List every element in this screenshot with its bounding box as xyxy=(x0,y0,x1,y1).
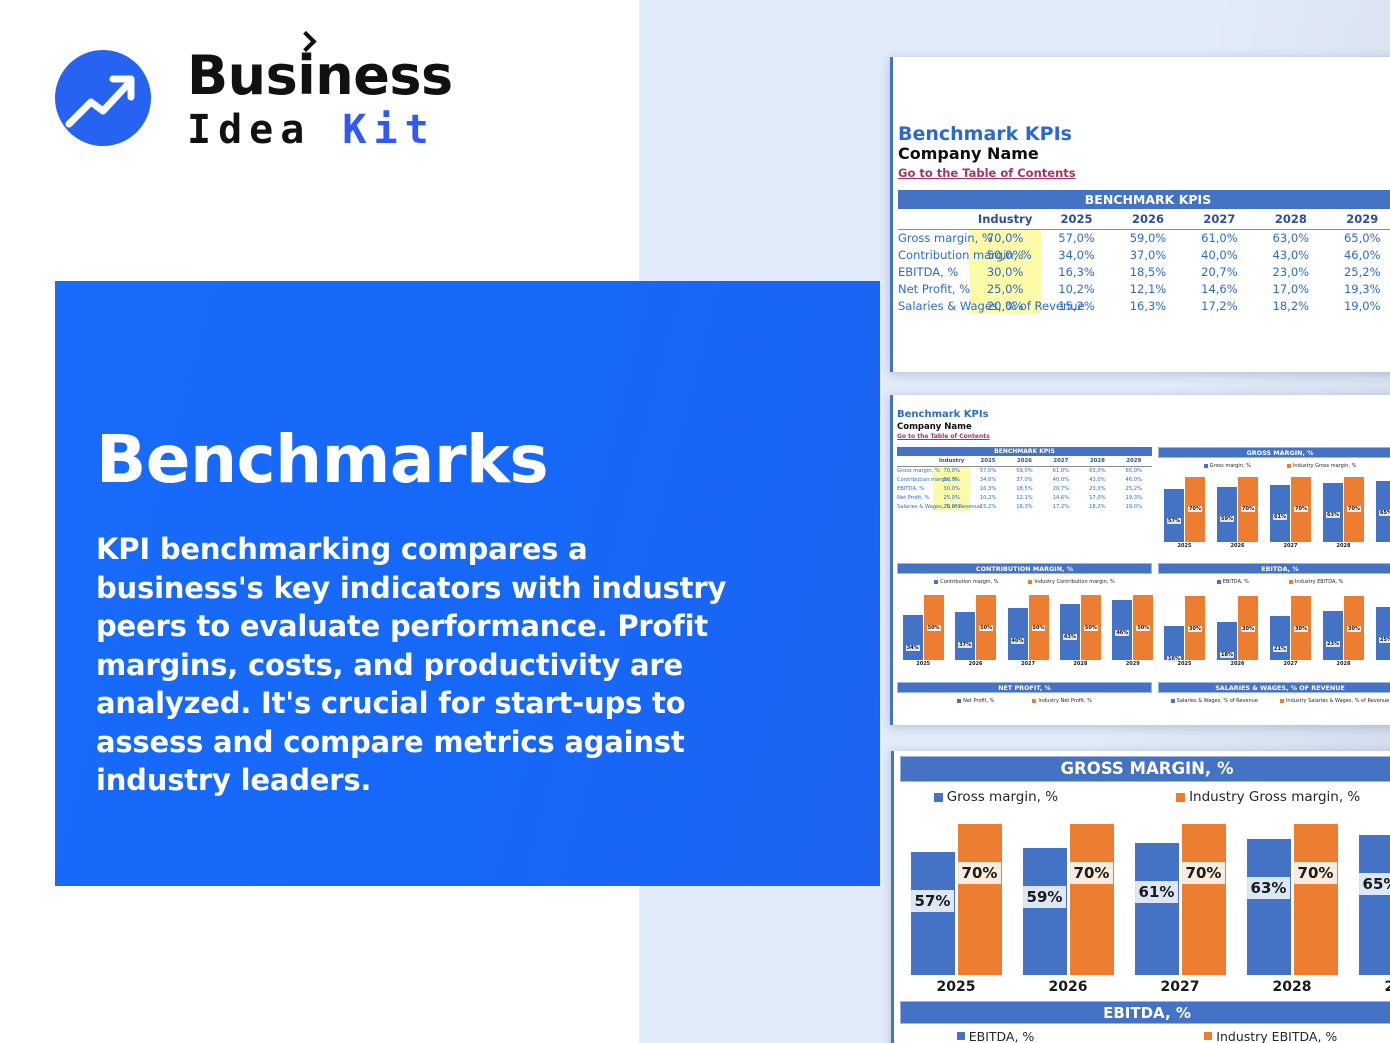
bar-industry-2028: 50% xyxy=(1081,595,1101,660)
cell-2025: 16,3% xyxy=(970,484,1006,493)
legend-item-series2: Industry EBITDA, % xyxy=(1289,579,1343,585)
legend-swatch-icon xyxy=(1032,699,1036,703)
bar-industry-2025: 30% xyxy=(1185,596,1205,660)
cell-2027: 17,2% xyxy=(1184,297,1255,314)
chart-title-ebitda-next: EBITDA, % xyxy=(900,1001,1390,1024)
sheet-title: Benchmark KPIs xyxy=(898,123,1072,145)
bar-value-label: 18% xyxy=(1220,652,1234,658)
legend-label: EBITDA, % xyxy=(969,1029,1035,1043)
table-row: Gross margin, % 70,0% 57,0% 59,0% 61,0% … xyxy=(898,229,1390,246)
bar-value-label: 21% xyxy=(1273,646,1287,652)
bar-value-label: 50% xyxy=(1136,625,1150,631)
mini-chart-gross-margin[interactable]: GROSS MARGIN, % Gross margin, % Industry… xyxy=(1158,447,1390,565)
bar-company-2025: 34% xyxy=(903,615,923,660)
legend-item-series1: EBITDA, % xyxy=(1217,579,1249,585)
mini-x-axis: 20252026202720282029 xyxy=(1158,543,1390,553)
bar-company-2025: 16% xyxy=(1164,626,1184,660)
legend-label: Industry Gross margin, % xyxy=(1293,463,1356,469)
mini-bars: 34%50%37%50%40%50%43%50%46%50% xyxy=(897,588,1152,660)
cell-2026: 12,1% xyxy=(1112,280,1183,297)
cell-2027: 14,6% xyxy=(1184,280,1255,297)
bar-company-2028: 43% xyxy=(1060,604,1080,660)
bar-industry-2025: 50% xyxy=(924,595,944,660)
legend-swatch-icon xyxy=(1028,580,1032,584)
legend-item-series1: Gross margin, % xyxy=(1204,463,1251,469)
brand-name-i: i xyxy=(297,47,315,105)
legend-item-series1: Salaries & Wages, % of Revenue xyxy=(1171,698,1258,704)
mini-chart-title: CONTRIBUTION MARGIN, % xyxy=(897,563,1152,574)
mini-col-industry: Industry xyxy=(933,456,969,466)
cell-2027: 20,7% xyxy=(1043,484,1079,493)
row-label: Contribution margin, % xyxy=(897,475,933,484)
x-axis-label-2027: 2027 xyxy=(1124,979,1236,995)
sheet-left-rail xyxy=(890,57,893,372)
mini-x-axis: 20252026202720282029 xyxy=(1158,661,1390,671)
mini-chart-contribution-margin[interactable]: CONTRIBUTION MARGIN, % Contribution marg… xyxy=(897,563,1152,683)
legend-swatch-icon xyxy=(1280,699,1284,703)
legend-label: Gross margin, % xyxy=(947,789,1058,805)
table-row: Net Profit, % 25,0% 10,2% 12,1% 14,6% 17… xyxy=(897,493,1152,502)
table-row: EBITDA, % 30,0% 16,3% 18,5% 20,7% 23,0% … xyxy=(897,484,1152,493)
cell-industry: 30,0% xyxy=(933,484,969,493)
bar-value-label: 46% xyxy=(1115,630,1129,636)
mini-plot-area: 16%30%18%30%21%30%23%30%25%30%2025202620… xyxy=(1158,588,1390,672)
x-axis-label-2028: 2028 xyxy=(1317,543,1370,549)
legend-item-series2: Industry Net Profit, % xyxy=(1032,698,1092,704)
mini-chart-ebitda[interactable]: EBITDA, % EBITDA, % Industry EBITDA, % 1… xyxy=(1158,563,1390,683)
legend-item-series1: Gross margin, % xyxy=(934,789,1058,805)
cell-2026: 16,3% xyxy=(1006,502,1042,511)
cell-2027: 17,2% xyxy=(1043,502,1079,511)
spreadsheet-panel-kpi-table[interactable]: Benchmark KPIs Company Name Go to the Ta… xyxy=(890,57,1390,372)
hero-description: KPI benchmarking compares a business's k… xyxy=(96,530,764,800)
x-axis-label-2025: 2025 xyxy=(900,979,1012,995)
bar-value-label: 70% xyxy=(1188,506,1202,512)
brand-idea-word: Idea xyxy=(187,107,342,153)
row-label: EBITDA, % xyxy=(897,484,933,493)
x-axis-label-2025: 2025 xyxy=(897,661,949,667)
mini-col-2025: 2025 xyxy=(970,456,1006,466)
bar-value-label: 57% xyxy=(1167,518,1181,524)
bar-industry-2025: 70% xyxy=(1185,477,1205,542)
bar-company-2026: 37% xyxy=(955,612,975,660)
legend-item-series1: EBITDA, % xyxy=(957,1029,1035,1043)
bar-company-2025: 57% xyxy=(911,852,955,975)
bar-value-label: 61% xyxy=(1135,881,1179,903)
bar-company-2027: 40% xyxy=(1008,608,1028,660)
cell-2028: 43,0% xyxy=(1079,475,1115,484)
x-axis-label-2028: 2028 xyxy=(1317,661,1370,667)
cell-2027: 40,0% xyxy=(1043,475,1079,484)
legend-swatch-icon xyxy=(957,1032,965,1040)
bar-company-2029: 46% xyxy=(1112,600,1132,660)
legend-label: Industry Contribution margin, % xyxy=(1034,579,1114,585)
mini-chart-salaries-wages[interactable]: SALARIES & WAGES, % OF REVENUE Salaries … xyxy=(1158,682,1390,710)
cell-2026: 18,5% xyxy=(1112,263,1183,280)
cell-2029: 19,0% xyxy=(1327,297,1390,314)
bar-value-label: 25% xyxy=(1379,637,1390,643)
bar-value-label: 70% xyxy=(1182,862,1226,884)
brand-name-line2: Idea Kit xyxy=(187,107,453,153)
cell-2029: 25,2% xyxy=(1327,263,1390,280)
cell-2029: 19,0% xyxy=(1116,502,1152,511)
row-label: Salaries & Wages, % of Revenue xyxy=(897,502,933,511)
cell-2028: 18,2% xyxy=(1079,502,1115,511)
brand-kit-word: Kit xyxy=(342,107,435,153)
legend-label: Industry EBITDA, % xyxy=(1216,1029,1337,1043)
cell-2026: 16,3% xyxy=(1112,297,1183,314)
table-col-2029: 2029 xyxy=(1327,209,1390,229)
bar-value-label: 50% xyxy=(1032,625,1046,631)
mini-plot-area: 34%50%37%50%40%50%43%50%46%50%2025202620… xyxy=(897,588,1152,672)
bar-value-label: 30% xyxy=(1347,626,1361,632)
x-axis-label-2027: 2027 xyxy=(1264,543,1317,549)
bar-value-label: 63% xyxy=(1326,512,1340,518)
table-col-2028: 2028 xyxy=(1255,209,1326,229)
cell-2029: 46,0% xyxy=(1116,475,1152,484)
bar-value-label: 50% xyxy=(1084,625,1098,631)
bar-value-label: 59% xyxy=(1220,516,1234,522)
bar-company-2026: 18% xyxy=(1217,622,1237,660)
mini-sheet-subtitle: Company Name xyxy=(897,422,972,432)
bar-value-label: 57% xyxy=(911,890,955,912)
x-axis-label-2025: 2025 xyxy=(1158,543,1211,549)
table-row: EBITDA, % 30,0% 16,3% 18,5% 20,7% 23,0% … xyxy=(898,263,1390,280)
cell-2028: 23,0% xyxy=(1255,263,1326,280)
cell-2026: 37,0% xyxy=(1006,475,1042,484)
mini-col-2027: 2027 xyxy=(1043,456,1079,466)
table-row: Contribution margin, % 50,0% 34,0% 37,0%… xyxy=(897,475,1152,484)
legend-swatch-icon xyxy=(1204,464,1208,468)
cell-2025: 34,0% xyxy=(970,475,1006,484)
chart-panel-gross-margin-large[interactable]: GROSS MARGIN, % Gross margin, % Industry… xyxy=(891,751,1390,1043)
bar-company-2027: 21% xyxy=(1270,616,1290,660)
table-col-rowlabel xyxy=(898,209,969,229)
bar-value-label: 37% xyxy=(958,642,972,648)
bar-company-2027: 61% xyxy=(1135,843,1179,975)
cell-2029: 19,3% xyxy=(1327,280,1390,297)
legend-swatch-icon xyxy=(1287,464,1291,468)
bar-value-label: 23% xyxy=(1326,641,1340,647)
x-axis-label-2027: 2027 xyxy=(1264,661,1317,667)
chart-plot-area-gross-margin: 57%70%59%70%61%70%63%70%65%70% xyxy=(900,813,1390,975)
legend-label: Salaries & Wages, % of Revenue xyxy=(1177,698,1258,704)
table-col-2025: 2025 xyxy=(1041,209,1112,229)
cell-2029: 65,0% xyxy=(1116,466,1152,475)
sheet-left-rail xyxy=(890,395,893,725)
legend-item-series1: Net Profit, % xyxy=(957,698,994,704)
legend-label: EBITDA, % xyxy=(1223,579,1249,585)
mini-chart-net-profit[interactable]: NET PROFIT, % Net Profit, % Industry Net… xyxy=(897,682,1152,710)
bar-value-label: 50% xyxy=(927,625,941,631)
bar-value-label: 30% xyxy=(1241,626,1255,632)
table-row: Gross margin, % 70,0% 57,0% 59,0% 61,0% … xyxy=(897,466,1152,475)
legend-label: Gross margin, % xyxy=(1210,463,1251,469)
slide-canvas: Business Idea Kit Benchmarks KPI benchma… xyxy=(0,0,1390,1043)
mini-plot-area: 57%70%59%70%61%70%63%70%65%70%2025202620… xyxy=(1158,472,1390,554)
cell-2028: 18,2% xyxy=(1255,297,1326,314)
legend-swatch-icon xyxy=(934,793,943,802)
mini-sheet-title: Benchmark KPIs xyxy=(897,409,989,420)
table-row: Salaries & Wages, % of Revenue 20,0% 15,… xyxy=(898,297,1390,314)
bar-industry-2026: 70% xyxy=(1070,824,1114,975)
bar-company-2029: 65% xyxy=(1376,481,1390,542)
mini-x-axis: 20252026202720282029 xyxy=(897,661,1152,671)
bar-company-2027: 61% xyxy=(1270,485,1290,542)
cell-2027: 14,6% xyxy=(1043,493,1079,502)
bar-company-2026: 59% xyxy=(1023,848,1067,975)
cell-2027: 61,0% xyxy=(1043,466,1079,475)
legend-swatch-icon xyxy=(1217,580,1221,584)
table-row: Net Profit, % 25,0% 10,2% 12,1% 14,6% 17… xyxy=(898,280,1390,297)
legend-swatch-icon xyxy=(934,580,938,584)
bar-company-2026: 59% xyxy=(1217,487,1237,542)
bar-value-label: 43% xyxy=(1063,634,1077,640)
bar-company-2028: 63% xyxy=(1323,483,1343,542)
mini-col-rowlabel xyxy=(897,456,933,466)
cell-2025: 10,2% xyxy=(1041,280,1112,297)
x-axis-label-2029: 2029 xyxy=(1370,543,1390,549)
row-label: Gross margin, % xyxy=(898,229,969,246)
mini-bars: 57%70%59%70%61%70%63%70%65%70% xyxy=(1158,472,1390,542)
bar-industry-2029: 50% xyxy=(1133,595,1153,660)
bar-value-label: 70% xyxy=(1347,506,1361,512)
cell-2029: 25,2% xyxy=(1116,484,1152,493)
cell-2025: 57,0% xyxy=(1041,229,1112,246)
bar-company-2028: 63% xyxy=(1247,839,1291,975)
bar-value-label: 65% xyxy=(1359,873,1390,895)
cell-2027: 20,7% xyxy=(1184,263,1255,280)
legend-item-series2: Industry Gross margin, % xyxy=(1287,463,1356,469)
x-axis-label-2026: 2026 xyxy=(1012,979,1124,995)
cell-industry: 25,0% xyxy=(933,493,969,502)
bar-company-2029: 65% xyxy=(1359,835,1390,975)
bar-company-2025: 57% xyxy=(1164,489,1184,542)
x-axis-label-2029: 2029 xyxy=(1348,979,1390,995)
cell-industry: 30,0% xyxy=(969,263,1040,280)
x-axis-label-2027: 2027 xyxy=(1002,661,1054,667)
bar-value-label: 70% xyxy=(1294,506,1308,512)
row-label: Net Profit, % xyxy=(897,493,933,502)
mini-bars: 16%30%18%30%21%30%23%30%25%30% xyxy=(1158,588,1390,660)
row-label: Contribution margin, % xyxy=(898,246,969,263)
cell-2025: 57,0% xyxy=(970,466,1006,475)
cell-2029: 65,0% xyxy=(1327,229,1390,246)
cell-2028: 23,0% xyxy=(1079,484,1115,493)
cell-2029: 19,3% xyxy=(1116,493,1152,502)
sheet-subtitle: Company Name xyxy=(898,144,1039,163)
cell-2027: 40,0% xyxy=(1184,246,1255,263)
cell-2026: 59,0% xyxy=(1006,466,1042,475)
bar-value-label: 70% xyxy=(1294,862,1338,884)
bar-value-label: 34% xyxy=(906,645,920,651)
bar-industry-2026: 50% xyxy=(976,595,996,660)
hero-panel: Benchmarks KPI benchmarking compares a b… xyxy=(55,281,880,886)
legend-label: Industry EBITDA, % xyxy=(1295,579,1343,585)
legend-swatch-icon xyxy=(1171,699,1175,703)
legend-item-series2: Industry Gross margin, % xyxy=(1176,789,1360,805)
bar-company-2028: 23% xyxy=(1323,611,1343,660)
bar-value-label: 50% xyxy=(979,625,993,631)
bar-industry-2028: 70% xyxy=(1294,824,1338,975)
spreadsheet-panel-dashboard[interactable]: Benchmark KPIs Company Name Go to the Ta… xyxy=(890,395,1390,725)
mini-chart-title: SALARIES & WAGES, % OF REVENUE xyxy=(1158,682,1390,693)
bar-industry-2026: 30% xyxy=(1238,596,1258,660)
cell-2028: 17,0% xyxy=(1255,280,1326,297)
x-axis-label-2025: 2025 xyxy=(1158,661,1211,667)
bar-industry-2027: 30% xyxy=(1291,596,1311,660)
brand-name-part1: Bus xyxy=(187,44,297,107)
cell-industry: 25,0% xyxy=(969,280,1040,297)
bar-industry-2026: 70% xyxy=(1238,477,1258,542)
bar-value-label: 30% xyxy=(1188,626,1202,632)
row-label: EBITDA, % xyxy=(898,263,969,280)
x-axis-label-2026: 2026 xyxy=(949,661,1001,667)
brand-name-line1: Business xyxy=(187,47,453,105)
bar-industry-2027: 50% xyxy=(1029,595,1049,660)
bar-company-2029: 25% xyxy=(1376,607,1390,660)
legend-label: Industry Gross margin, % xyxy=(1189,789,1360,805)
mini-table-banner: BENCHMARK KPIS xyxy=(897,447,1152,456)
legend-label: Contribution margin, % xyxy=(940,579,998,585)
bar-value-label: 63% xyxy=(1247,877,1291,899)
cell-2028: 17,0% xyxy=(1079,493,1115,502)
cell-2029: 46,0% xyxy=(1327,246,1390,263)
legend-swatch-icon xyxy=(957,699,961,703)
x-axis-label-2028: 2028 xyxy=(1054,661,1106,667)
cell-2028: 63,0% xyxy=(1079,466,1115,475)
mini-chart-title: EBITDA, % xyxy=(1158,563,1390,574)
bar-industry-2028: 30% xyxy=(1344,596,1364,660)
legend-swatch-icon xyxy=(1204,1032,1212,1040)
x-axis-label-2029: 2029 xyxy=(1370,661,1390,667)
table-col-2026: 2026 xyxy=(1112,209,1183,229)
mini-chart-title: NET PROFIT, % xyxy=(897,682,1152,693)
brand-name-part2: ness xyxy=(315,44,452,107)
cell-2026: 59,0% xyxy=(1112,229,1183,246)
row-label: Net Profit, % xyxy=(898,280,969,297)
cell-2028: 43,0% xyxy=(1255,246,1326,263)
bar-value-label: 70% xyxy=(1070,862,1114,884)
legend-item-series2: Industry Contribution margin, % xyxy=(1028,579,1114,585)
legend-label: Net Profit, % xyxy=(963,698,994,704)
bar-value-label: 65% xyxy=(1379,510,1390,516)
mini-benchmark-kpi-table: BENCHMARK KPIS Industry 2025 2026 2027 2… xyxy=(897,447,1152,511)
legend-swatch-icon xyxy=(1176,793,1185,802)
legend-item-series1: Contribution margin, % xyxy=(934,579,998,585)
growth-arrow-icon xyxy=(55,50,151,146)
bar-industry-2025: 70% xyxy=(958,824,1002,975)
table-col-industry: Industry xyxy=(969,209,1040,229)
table-col-2027: 2027 xyxy=(1184,209,1255,229)
table-banner: BENCHMARK KPIS xyxy=(898,190,1390,209)
cell-2027: 61,0% xyxy=(1184,229,1255,246)
bar-industry-2028: 70% xyxy=(1344,477,1364,542)
legend-label: Industry Salaries & Wages, % of Revenue xyxy=(1286,698,1389,704)
legend-swatch-icon xyxy=(1289,580,1293,584)
cell-2026: 37,0% xyxy=(1112,246,1183,263)
legend-item-series2: Industry Salaries & Wages, % of Revenue xyxy=(1280,698,1389,704)
brand-logo: Business Idea Kit xyxy=(55,47,475,157)
chart-title-gross-margin: GROSS MARGIN, % xyxy=(900,756,1390,782)
mini-col-2026: 2026 xyxy=(1006,456,1042,466)
cell-2028: 63,0% xyxy=(1255,229,1326,246)
bar-value-label: 70% xyxy=(958,862,1002,884)
mini-chart-title: GROSS MARGIN, % xyxy=(1158,447,1390,458)
page-title: Benchmarks xyxy=(96,425,548,495)
cell-2025: 34,0% xyxy=(1041,246,1112,263)
legend-label: Industry Net Profit, % xyxy=(1038,698,1092,704)
x-axis-label-2026: 2026 xyxy=(1211,543,1264,549)
table-of-contents-link[interactable]: Go to the Table of Contents xyxy=(898,166,1076,180)
cell-2025: 16,3% xyxy=(1041,263,1112,280)
bar-value-label: 70% xyxy=(1241,506,1255,512)
bar-industry-2027: 70% xyxy=(1291,477,1311,542)
sheet-left-rail xyxy=(891,751,894,1043)
row-label: Salaries & Wages, % of Revenue xyxy=(898,297,969,314)
bar-value-label: 30% xyxy=(1294,626,1308,632)
chart-legend-ebitda-next: EBITDA, % Industry EBITDA, % xyxy=(900,1027,1390,1043)
x-axis-label-2029: 2029 xyxy=(1107,661,1159,667)
bar-value-label: 40% xyxy=(1011,638,1025,644)
bar-value-label: 59% xyxy=(1023,886,1067,908)
legend-item-series2: Industry EBITDA, % xyxy=(1204,1029,1337,1043)
mini-col-2029: 2029 xyxy=(1116,456,1152,466)
chart-legend-gross-margin: Gross margin, % Industry Gross margin, % xyxy=(900,787,1390,807)
x-axis-label-2028: 2028 xyxy=(1236,979,1348,995)
bar-industry-2027: 70% xyxy=(1182,824,1226,975)
chart-x-axis-gross-margin: 20252026202720282029 xyxy=(900,979,1390,999)
cell-2026: 12,1% xyxy=(1006,493,1042,502)
mini-col-2028: 2028 xyxy=(1079,456,1115,466)
cell-2026: 18,5% xyxy=(1006,484,1042,493)
table-row: Salaries & Wages, % of Revenue 20,0% 15,… xyxy=(897,502,1152,511)
row-label: Gross margin, % xyxy=(897,466,933,475)
benchmark-kpi-table: BENCHMARK KPIS Industry 2025 2026 2027 2… xyxy=(898,190,1390,314)
bar-value-label: 61% xyxy=(1273,514,1287,520)
mini-table-of-contents-link[interactable]: Go to the Table of Contents xyxy=(897,433,990,440)
x-axis-label-2026: 2026 xyxy=(1211,661,1264,667)
cell-2025: 10,2% xyxy=(970,493,1006,502)
table-row: Contribution margin, % 50,0% 34,0% 37,0%… xyxy=(898,246,1390,263)
